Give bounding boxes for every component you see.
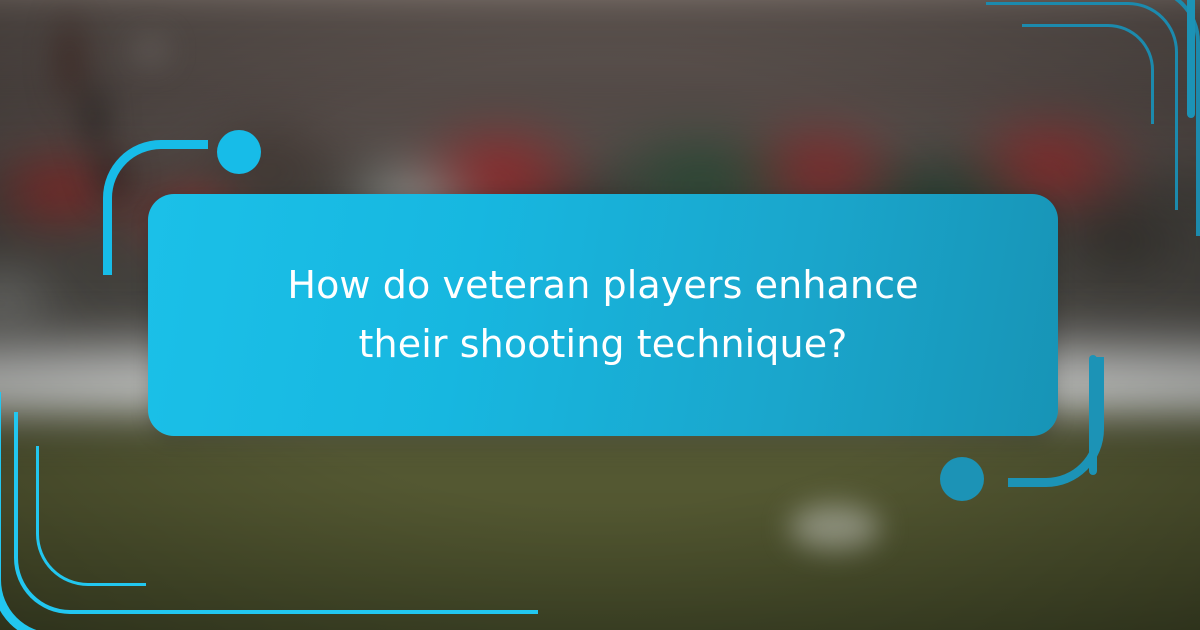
dot-bottom-icon: [940, 457, 984, 501]
quote-question-text: How do veteran players enhance their sho…: [253, 256, 953, 374]
dot-top-icon: [217, 130, 261, 174]
quote-card: How do veteran players enhance their sho…: [148, 194, 1058, 436]
tick-top-right: [1187, 0, 1195, 118]
social-quote-card-canvas: How do veteran players enhance their sho…: [0, 0, 1200, 630]
tick-bottom-right: [1089, 355, 1097, 475]
